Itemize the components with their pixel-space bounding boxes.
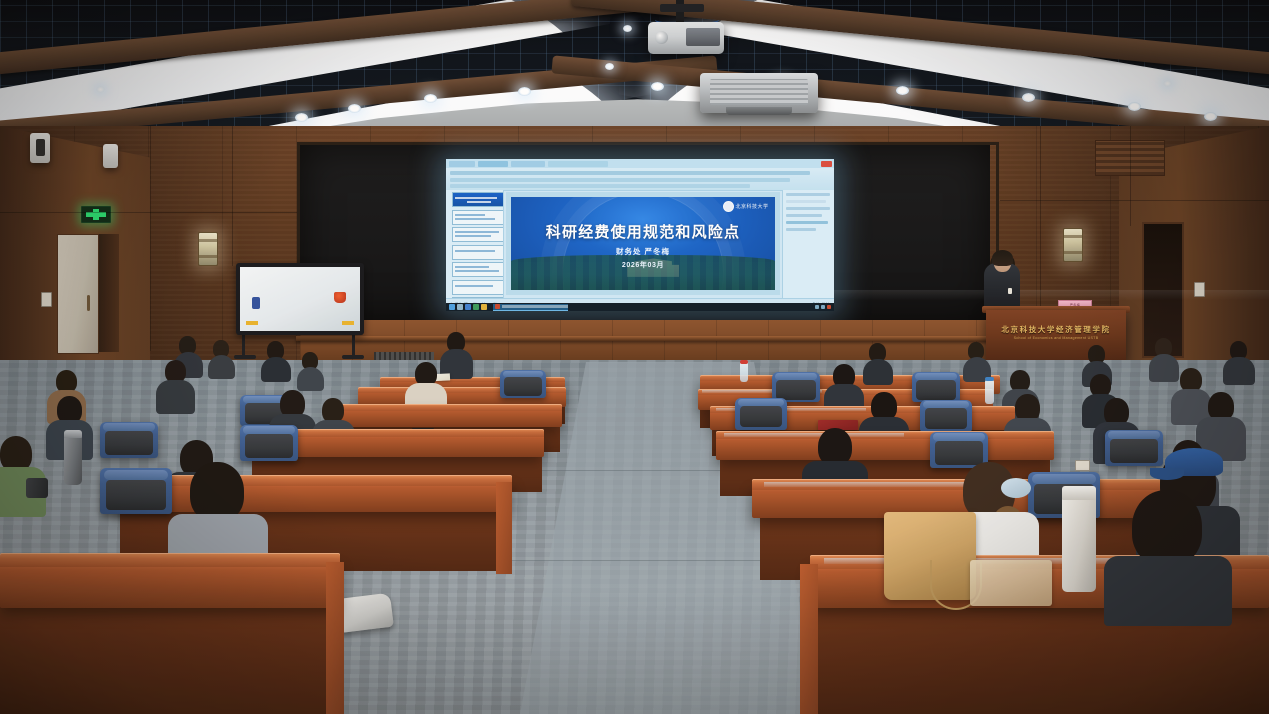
desk-row6-left	[0, 562, 340, 608]
wall-sconce-left	[198, 232, 218, 266]
slide-thumbnail-2[interactable]	[452, 210, 504, 225]
powerpoint-icon	[495, 304, 500, 309]
whiteboard-tape-left	[246, 321, 258, 325]
white-thermos	[1062, 492, 1096, 592]
thumb-line	[455, 235, 491, 237]
chair-cushion	[504, 377, 542, 395]
presenter-hair	[992, 250, 1013, 266]
mobile-whiteboard[interactable]	[230, 263, 365, 361]
white-thermos-cap	[1062, 486, 1096, 500]
chair-r4-1[interactable]	[240, 425, 298, 461]
chair-cushion	[105, 431, 153, 455]
sconce-bar-d	[1064, 251, 1082, 254]
chair-cushion	[916, 380, 955, 400]
titlebar-tab-2[interactable]	[478, 161, 508, 167]
wall-speaker-cone-left-1	[36, 139, 45, 156]
slide-date: 2026年03月	[511, 260, 774, 270]
close-icon[interactable]	[821, 161, 832, 167]
thermos-grey-cap	[64, 430, 82, 438]
spot-light-left	[96, 86, 105, 93]
bottle-cap-2	[985, 377, 994, 381]
university-logo-text: 北京科技大学	[736, 203, 769, 210]
exit-sign	[81, 206, 111, 223]
desk-end-panel-l6	[326, 562, 344, 714]
slide-university-logo: 北京科技大学	[723, 201, 769, 212]
podium-sign-en: School of Economics and Management USTB	[986, 336, 1126, 340]
thumb-line	[455, 231, 499, 233]
whiteboard-magnet-icon[interactable]	[252, 297, 260, 309]
sconce-bar-b	[199, 255, 217, 258]
snack-bag	[970, 560, 1052, 606]
slide-title: 科研经费使用规范和风险点	[511, 221, 774, 242]
slide-thumbnail-1[interactable]	[452, 192, 504, 207]
body	[208, 355, 235, 379]
search-icon[interactable]	[457, 304, 463, 310]
whiteboard-tape-right	[342, 321, 354, 325]
thumb-line	[455, 250, 495, 252]
ribbon-tabs-row[interactable]	[450, 171, 810, 175]
format-pane[interactable]	[782, 190, 834, 299]
explorer-icon[interactable]	[473, 304, 479, 310]
spot-light-right	[1163, 80, 1172, 87]
format-pane-row	[786, 214, 822, 217]
chair-headrest	[103, 423, 154, 431]
chair-headrest	[923, 401, 969, 408]
downlight-7	[896, 86, 909, 95]
chair-headrest	[243, 426, 294, 434]
ribbon-tools-row-1[interactable]	[450, 178, 790, 182]
slide-thumbnail-panel[interactable]	[446, 190, 504, 299]
start-icon[interactable]	[449, 304, 455, 310]
format-pane-row	[786, 221, 828, 224]
chair-r5-1[interactable]	[100, 468, 172, 514]
spot-light-center-top	[623, 25, 632, 32]
thumb-line	[455, 270, 499, 272]
chair-r3-2[interactable]	[920, 400, 972, 432]
podium-sign: 北京科技大学经济管理学院 School of Economics and Man…	[986, 324, 1126, 340]
tray-volume-icon[interactable]	[821, 305, 825, 309]
left-door-handle[interactable]	[87, 295, 90, 311]
body	[863, 359, 893, 385]
chair-r2-3[interactable]	[500, 370, 546, 398]
hair-scrunchie	[1001, 478, 1031, 498]
wall-seam-3	[0, 212, 300, 213]
chair-headrest	[915, 373, 957, 380]
presenter-badge	[1008, 288, 1012, 294]
chair-cushion	[106, 480, 165, 510]
sconce-bar-a	[199, 239, 217, 242]
air-conditioner-grille	[710, 79, 808, 105]
format-pane-row	[786, 200, 826, 203]
exit-cross-icon	[86, 209, 106, 220]
marker-rail	[296, 336, 996, 341]
format-pane-row	[786, 228, 816, 231]
projector-panel	[686, 28, 720, 46]
desk-top-row6-left	[0, 553, 340, 567]
projector-lens-icon	[655, 31, 668, 44]
desk-power-outlet-2[interactable]	[1075, 460, 1090, 471]
desk-top-row3-left	[328, 404, 562, 411]
titlebar-tab-3[interactable]	[511, 161, 545, 167]
tray-network-icon[interactable]	[815, 305, 819, 309]
thumb-line	[455, 285, 493, 287]
wall-seam-6	[1000, 200, 1269, 201]
powerpoint-window[interactable]: 北京科技大学 科研经费使用规范和风险点 财务处 严冬梅 2026年03月 幻灯片…	[446, 159, 834, 311]
powerpoint-ribbon[interactable]	[446, 168, 834, 191]
thumb-line	[455, 214, 485, 216]
head	[190, 462, 244, 522]
lecture-hall-photo: 北京科技大学 科研经费使用规范和风险点 财务处 严冬梅 2026年03月 幻灯片…	[0, 0, 1269, 714]
edge-icon[interactable]	[465, 304, 471, 310]
whiteboard-foot-left	[234, 355, 256, 359]
thumb-line	[455, 266, 489, 268]
chair-r4-2[interactable]	[100, 422, 158, 458]
ribbon-tools-row-2[interactable]	[450, 184, 750, 188]
tray-notification-icon[interactable]	[827, 305, 831, 309]
chair-headrest	[104, 470, 167, 480]
podium-sign-cn: 北京科技大学经济管理学院	[986, 324, 1126, 335]
cap-brim	[1150, 468, 1184, 480]
downlight-5	[651, 82, 664, 91]
wall-speaker-left-2	[103, 144, 118, 168]
slide-thumbnail-5[interactable]	[452, 262, 504, 277]
titlebar-tab-1[interactable]	[449, 161, 475, 167]
ceiling-projector	[648, 22, 724, 54]
wall-sconce-right	[1063, 228, 1083, 262]
body	[1104, 556, 1232, 626]
body	[156, 380, 195, 414]
wall-seam-1	[150, 126, 151, 351]
chair-headrest	[1108, 431, 1159, 439]
chair-cushion	[740, 406, 783, 427]
system-tray[interactable]	[815, 305, 831, 309]
downlight-9	[1128, 102, 1141, 111]
body	[261, 357, 291, 382]
taskbar-window-label	[502, 305, 568, 308]
chair-cushion	[245, 434, 293, 458]
body	[1223, 357, 1255, 385]
windows-taskbar[interactable]	[446, 303, 834, 311]
downlight-4	[518, 87, 531, 96]
left-door-opening	[97, 234, 119, 352]
slide-editing-area[interactable]: 北京科技大学 科研经费使用规范和风险点 财务处 严冬梅 2026年03月	[506, 192, 780, 295]
coffee-mug	[26, 478, 48, 498]
wall-seam-5	[1130, 126, 1131, 226]
powerpoint-titlebar[interactable]	[446, 159, 834, 168]
slide-thumbnail-3[interactable]	[452, 227, 504, 242]
wall-seam-2	[232, 126, 233, 266]
chair-headrest	[933, 433, 984, 441]
downlight-8	[1022, 93, 1035, 102]
university-seal-icon	[723, 201, 734, 212]
chair-cushion	[776, 380, 815, 400]
thermos-grey	[64, 435, 82, 485]
body	[1149, 354, 1179, 382]
thumb-line	[467, 201, 491, 203]
slide-presenter: 财务处 严冬梅	[511, 246, 774, 257]
left-door[interactable]	[57, 234, 99, 354]
whiteboard-foot-right	[342, 355, 364, 359]
downlight-2	[348, 104, 361, 113]
taskbar-active-window[interactable]	[493, 304, 568, 311]
desk-end-panel-l5	[496, 482, 512, 574]
downlight-10	[1204, 112, 1217, 121]
desk-under-row6-left	[0, 600, 332, 714]
chair-cushion	[1110, 439, 1158, 463]
sconce-bar-c	[1064, 235, 1082, 238]
desk-gloss-row5	[764, 482, 994, 487]
format-pane-row	[786, 193, 830, 196]
slide-thumbnail-4[interactable]	[452, 245, 504, 260]
chair-headrest	[738, 399, 784, 406]
bottle-cap-1	[740, 360, 748, 364]
titlebar-tab-active[interactable]	[548, 161, 608, 167]
folder-icon[interactable]	[481, 304, 487, 310]
chair-cushion	[935, 441, 983, 465]
spot-light-center	[605, 63, 614, 70]
chair-cushion	[925, 408, 968, 429]
head	[1132, 490, 1202, 566]
format-pane-row	[786, 207, 830, 210]
water-bottle-1	[740, 362, 748, 382]
thumb-line	[455, 218, 495, 220]
downlight-1	[295, 113, 308, 122]
chair-r3-1[interactable]	[735, 398, 787, 430]
water-bottle-2	[985, 380, 994, 404]
downlight-3	[424, 94, 437, 103]
chair-r4-3[interactable]	[1105, 430, 1163, 466]
chair-headrest	[1032, 474, 1095, 484]
desk-top-row5-left	[112, 475, 512, 486]
air-conditioner-vent	[726, 107, 792, 115]
body	[297, 367, 324, 391]
desk-end-panel-r6	[800, 564, 818, 714]
chair-r2-2[interactable]	[912, 372, 960, 402]
chair-headrest	[775, 373, 817, 380]
desk-row5-left	[112, 482, 512, 512]
whiteboard-marker-holder[interactable]	[334, 292, 346, 303]
desk-row4-right	[716, 436, 1054, 460]
current-slide[interactable]: 北京科技大学 科研经费使用规范和风险点 财务处 严冬梅 2026年03月	[511, 197, 774, 290]
desk-gloss-row4	[724, 433, 904, 437]
wall-switch-left[interactable]	[41, 292, 52, 307]
projector-bracket	[660, 4, 704, 12]
slide-thumbnail-6[interactable]	[452, 280, 504, 295]
thumb-line	[455, 197, 497, 199]
